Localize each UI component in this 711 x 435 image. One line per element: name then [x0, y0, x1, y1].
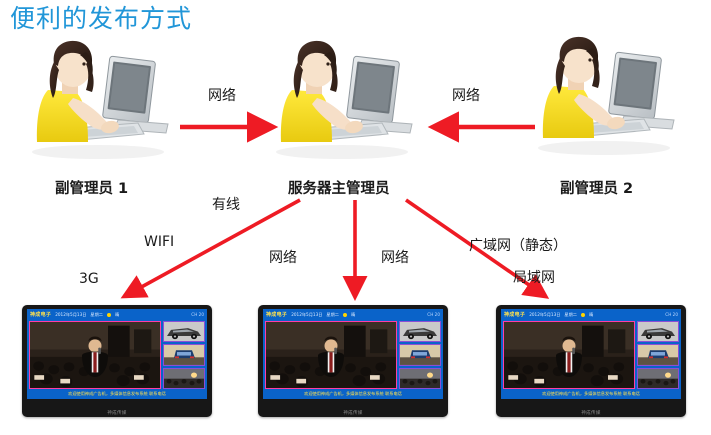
- person-computer-illustration: [524, 28, 684, 158]
- signage-header: 神成电子 2012年5月13日 星期二 晴 CH 20: [27, 309, 207, 320]
- signage-date: 2012年5月13日: [291, 312, 322, 318]
- page-title: 便利的发布方式: [10, 4, 192, 34]
- link-label-center-right-net: 网络: [381, 250, 409, 267]
- link-label-wan-static: 广域网（静态）: [469, 238, 567, 255]
- crowd-image: [164, 369, 204, 388]
- signage-display-1[interactable]: 神成电子 2012年5月13日 星期二 晴 CH 20: [22, 305, 212, 417]
- signage-screen: 神成电子 2012年5月13日 星期二 晴 CH 20: [501, 309, 681, 399]
- signage-date: 2012年5月13日: [529, 312, 560, 318]
- signage-bezel-mark: 神成传媒: [22, 410, 212, 416]
- conference-scene: [504, 322, 634, 388]
- signage-date: 2012年5月13日: [55, 312, 86, 318]
- signage-logo: 神成电子: [504, 311, 525, 318]
- link-label-left-to-center: 网络: [208, 88, 236, 105]
- signage-header: 神成电子 2012年5月13日 星期二 晴 CH 20: [263, 309, 443, 320]
- car-side-image: [400, 322, 440, 341]
- signage-weather: 晴: [115, 312, 119, 318]
- sun-icon: [343, 313, 347, 317]
- link-label-3g: 3G: [79, 271, 99, 288]
- person-computer-illustration: [18, 32, 178, 162]
- signage-main-video[interactable]: [29, 321, 161, 389]
- signage-weekday: 星期二: [564, 312, 577, 318]
- sun-icon: [581, 313, 585, 317]
- signage-weather: 晴: [589, 312, 593, 318]
- signage-screen: 神成电子 2012年5月13日 星期二 晴 CH 20: [263, 309, 443, 399]
- car-rear-image: [400, 345, 440, 364]
- thumbnail-2[interactable]: [399, 344, 441, 365]
- signage-weather: 晴: [351, 312, 355, 318]
- signage-channel: CH 20: [191, 312, 204, 317]
- crowd-image: [400, 369, 440, 388]
- sun-icon: [107, 313, 111, 317]
- link-label-lan: 局域网: [513, 270, 555, 287]
- signage-thumbnails: [637, 321, 679, 389]
- signage-ticker: 欢迎使用神成广告机，多媒体信息发布系统 联系电话: [265, 390, 441, 398]
- signage-logo: 神成电子: [30, 311, 51, 318]
- signage-weekday: 星期二: [90, 312, 103, 318]
- conference-scene: [30, 322, 160, 388]
- signage-body: [29, 321, 205, 389]
- signage-bezel-mark: 神成传媒: [258, 410, 448, 416]
- signage-ticker: 欢迎使用神成广告机，多媒体信息发布系统 联系电话: [503, 390, 679, 398]
- workstation-label-3: 副管理员 2: [560, 181, 633, 198]
- crowd-image: [638, 369, 678, 388]
- signage-weekday: 星期二: [326, 312, 339, 318]
- signage-channel: CH 20: [665, 312, 678, 317]
- thumbnail-1[interactable]: [399, 321, 441, 342]
- signage-logo: 神成电子: [266, 311, 287, 318]
- link-label-wifi: WIFI: [144, 234, 174, 251]
- workstation-server-main-admin: [262, 32, 422, 162]
- signage-thumbnails: [163, 321, 205, 389]
- workstation-label-2: 服务器主管理员: [288, 181, 390, 198]
- thumbnail-2[interactable]: [637, 344, 679, 365]
- signage-main-video[interactable]: [265, 321, 397, 389]
- link-label-center-left-net: 网络: [269, 250, 297, 267]
- thumbnail-3[interactable]: [163, 368, 205, 389]
- thumbnail-3[interactable]: [399, 368, 441, 389]
- thumbnail-1[interactable]: [163, 321, 205, 342]
- signage-display-2[interactable]: 神成电子 2012年5月13日 星期二 晴 CH 20: [258, 305, 448, 417]
- car-side-image: [638, 322, 678, 341]
- workstation-label-1: 副管理员 1: [55, 181, 128, 198]
- signage-bezel-mark: 神成传媒: [496, 410, 686, 416]
- signage-body: [265, 321, 441, 389]
- thumbnail-3[interactable]: [637, 368, 679, 389]
- conference-scene: [266, 322, 396, 388]
- car-side-image: [164, 322, 204, 341]
- signage-main-video[interactable]: [503, 321, 635, 389]
- link-label-wired: 有线: [212, 197, 240, 214]
- signage-header: 神成电子 2012年5月13日 星期二 晴 CH 20: [501, 309, 681, 320]
- signage-body: [503, 321, 679, 389]
- thumbnail-2[interactable]: [163, 344, 205, 365]
- signage-ticker: 欢迎使用神成广告机，多媒体信息发布系统 联系电话: [29, 390, 205, 398]
- workstation-deputy-admin-2: [524, 28, 684, 158]
- signage-display-3[interactable]: 神成电子 2012年5月13日 星期二 晴 CH 20: [496, 305, 686, 417]
- diagram-canvas: 便利的发布方式: [0, 0, 711, 435]
- signage-channel: CH 20: [427, 312, 440, 317]
- car-rear-image: [164, 345, 204, 364]
- signage-screen: 神成电子 2012年5月13日 星期二 晴 CH 20: [27, 309, 207, 399]
- workstation-deputy-admin-1: [18, 32, 178, 162]
- thumbnail-1[interactable]: [637, 321, 679, 342]
- signage-thumbnails: [399, 321, 441, 389]
- link-label-right-to-center: 网络: [452, 88, 480, 105]
- person-computer-illustration: [262, 32, 422, 162]
- car-rear-image: [638, 345, 678, 364]
